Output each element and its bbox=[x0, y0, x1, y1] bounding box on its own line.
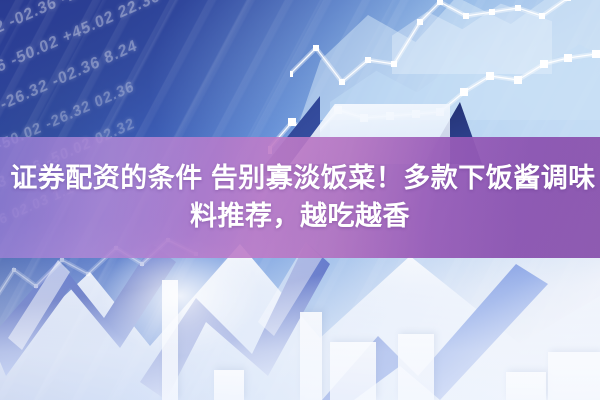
banner-image: -02.36 -11.25 +45.02 -02.36 21.36+45.02 … bbox=[0, 0, 600, 400]
headline-line-1: 证券配资的条件 告别寡淡饭菜！多款下饭酱调味 bbox=[4, 163, 596, 194]
headline-block: 证券配资的条件 告别寡淡饭菜！多款下饭酱调味 料推荐，越吃越香 bbox=[0, 137, 600, 258]
headline-line-2: 料推荐，越吃越香 bbox=[190, 201, 410, 232]
